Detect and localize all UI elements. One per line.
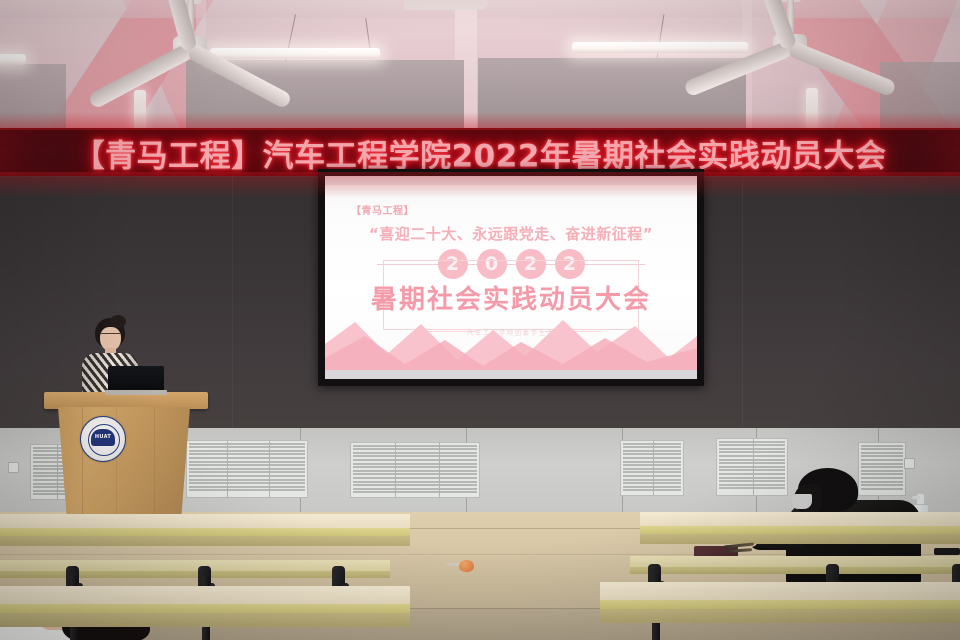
slide-mountain-graphic bbox=[325, 314, 697, 370]
laptop-base bbox=[105, 390, 167, 395]
desk-row-front-left bbox=[0, 586, 410, 620]
bench-row-mid-right bbox=[630, 556, 960, 576]
student-face-mask bbox=[792, 494, 812, 509]
slide-bottom-band bbox=[325, 370, 697, 379]
podium: HUAT bbox=[52, 392, 200, 524]
desk-row-far-left bbox=[0, 514, 410, 546]
projection-screen: 【青马工程】 “喜迎二十大、永远跟党走、奋进新征程” 2 0 2 2 暑期社会实… bbox=[318, 169, 704, 386]
laptop bbox=[108, 366, 164, 396]
slide: 【青马工程】 “喜迎二十大、永远跟党走、奋进新征程” 2 0 2 2 暑期社会实… bbox=[325, 176, 697, 379]
university-emblem-icon: HUAT bbox=[80, 416, 126, 462]
slide-title: 暑期社会实践动员大会 bbox=[325, 279, 697, 316]
emblem-label: HUAT bbox=[91, 434, 115, 440]
desk-object-right bbox=[934, 548, 960, 555]
podium-front bbox=[58, 407, 190, 524]
slide-tag: 【青马工程】 bbox=[351, 202, 414, 217]
slide-quote: “喜迎二十大、永远跟党走、奋进新征程” bbox=[325, 223, 697, 244]
laptop-screen bbox=[108, 366, 164, 391]
orange-object bbox=[459, 560, 474, 572]
desk-row-far-right bbox=[640, 512, 960, 544]
wall-vent-2 bbox=[186, 440, 308, 498]
ceiling bbox=[0, 0, 960, 132]
lecture-hall-photo: 【青马工程】汽车工程学院2022年暑期社会实践动员大会 【青马工程】 “喜迎二十… bbox=[0, 0, 960, 640]
slide-top-band bbox=[325, 176, 697, 185]
wall-vent-3 bbox=[350, 442, 480, 498]
desk-row-front-right bbox=[600, 582, 960, 616]
wall-outlet[interactable] bbox=[8, 462, 19, 473]
wall-vent-5 bbox=[716, 438, 788, 496]
wall-vent-4 bbox=[620, 440, 684, 496]
speaker-glasses bbox=[100, 333, 120, 339]
